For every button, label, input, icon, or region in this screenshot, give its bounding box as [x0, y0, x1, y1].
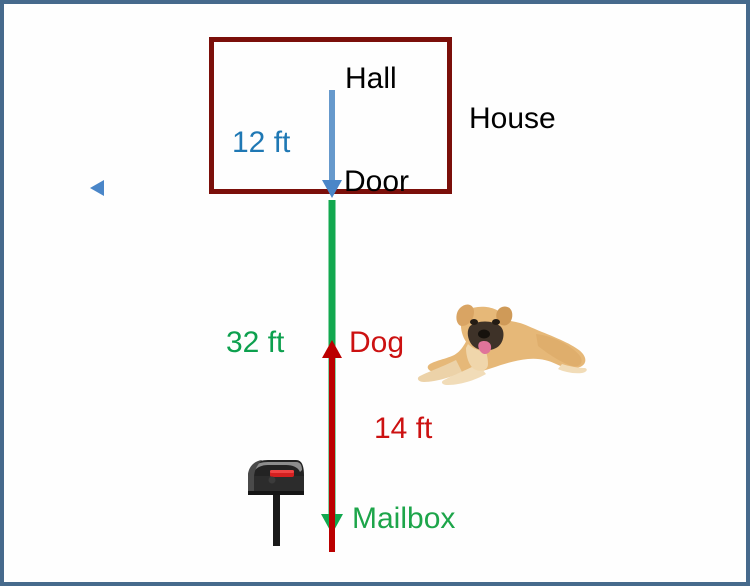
dog-label: Dog: [349, 328, 404, 358]
mailbox-label: Mailbox: [352, 504, 455, 534]
hall-label: Hall: [345, 64, 397, 94]
diagram-stage: Hall House Door 12 ft 32 ft 14 ft Dog Ma…: [4, 4, 746, 582]
mailbox-image: [242, 456, 314, 548]
measurement-14ft-label: 14 ft: [374, 414, 432, 444]
green-arrow-door-to-mailbox: [321, 200, 343, 534]
house-rectangle: [209, 37, 452, 194]
dog-image: [416, 296, 592, 388]
door-label: Door: [344, 167, 409, 197]
house-label: House: [469, 104, 556, 134]
left-triangle-marker-icon: [90, 180, 104, 196]
red-arrow-mailbox-to-dog: [322, 340, 342, 552]
diagram-canvas: Hall House Door 12 ft 32 ft 14 ft Dog Ma…: [0, 0, 750, 586]
measurement-32ft-label: 32 ft: [226, 328, 284, 358]
measurement-12ft-label: 12 ft: [232, 128, 290, 158]
